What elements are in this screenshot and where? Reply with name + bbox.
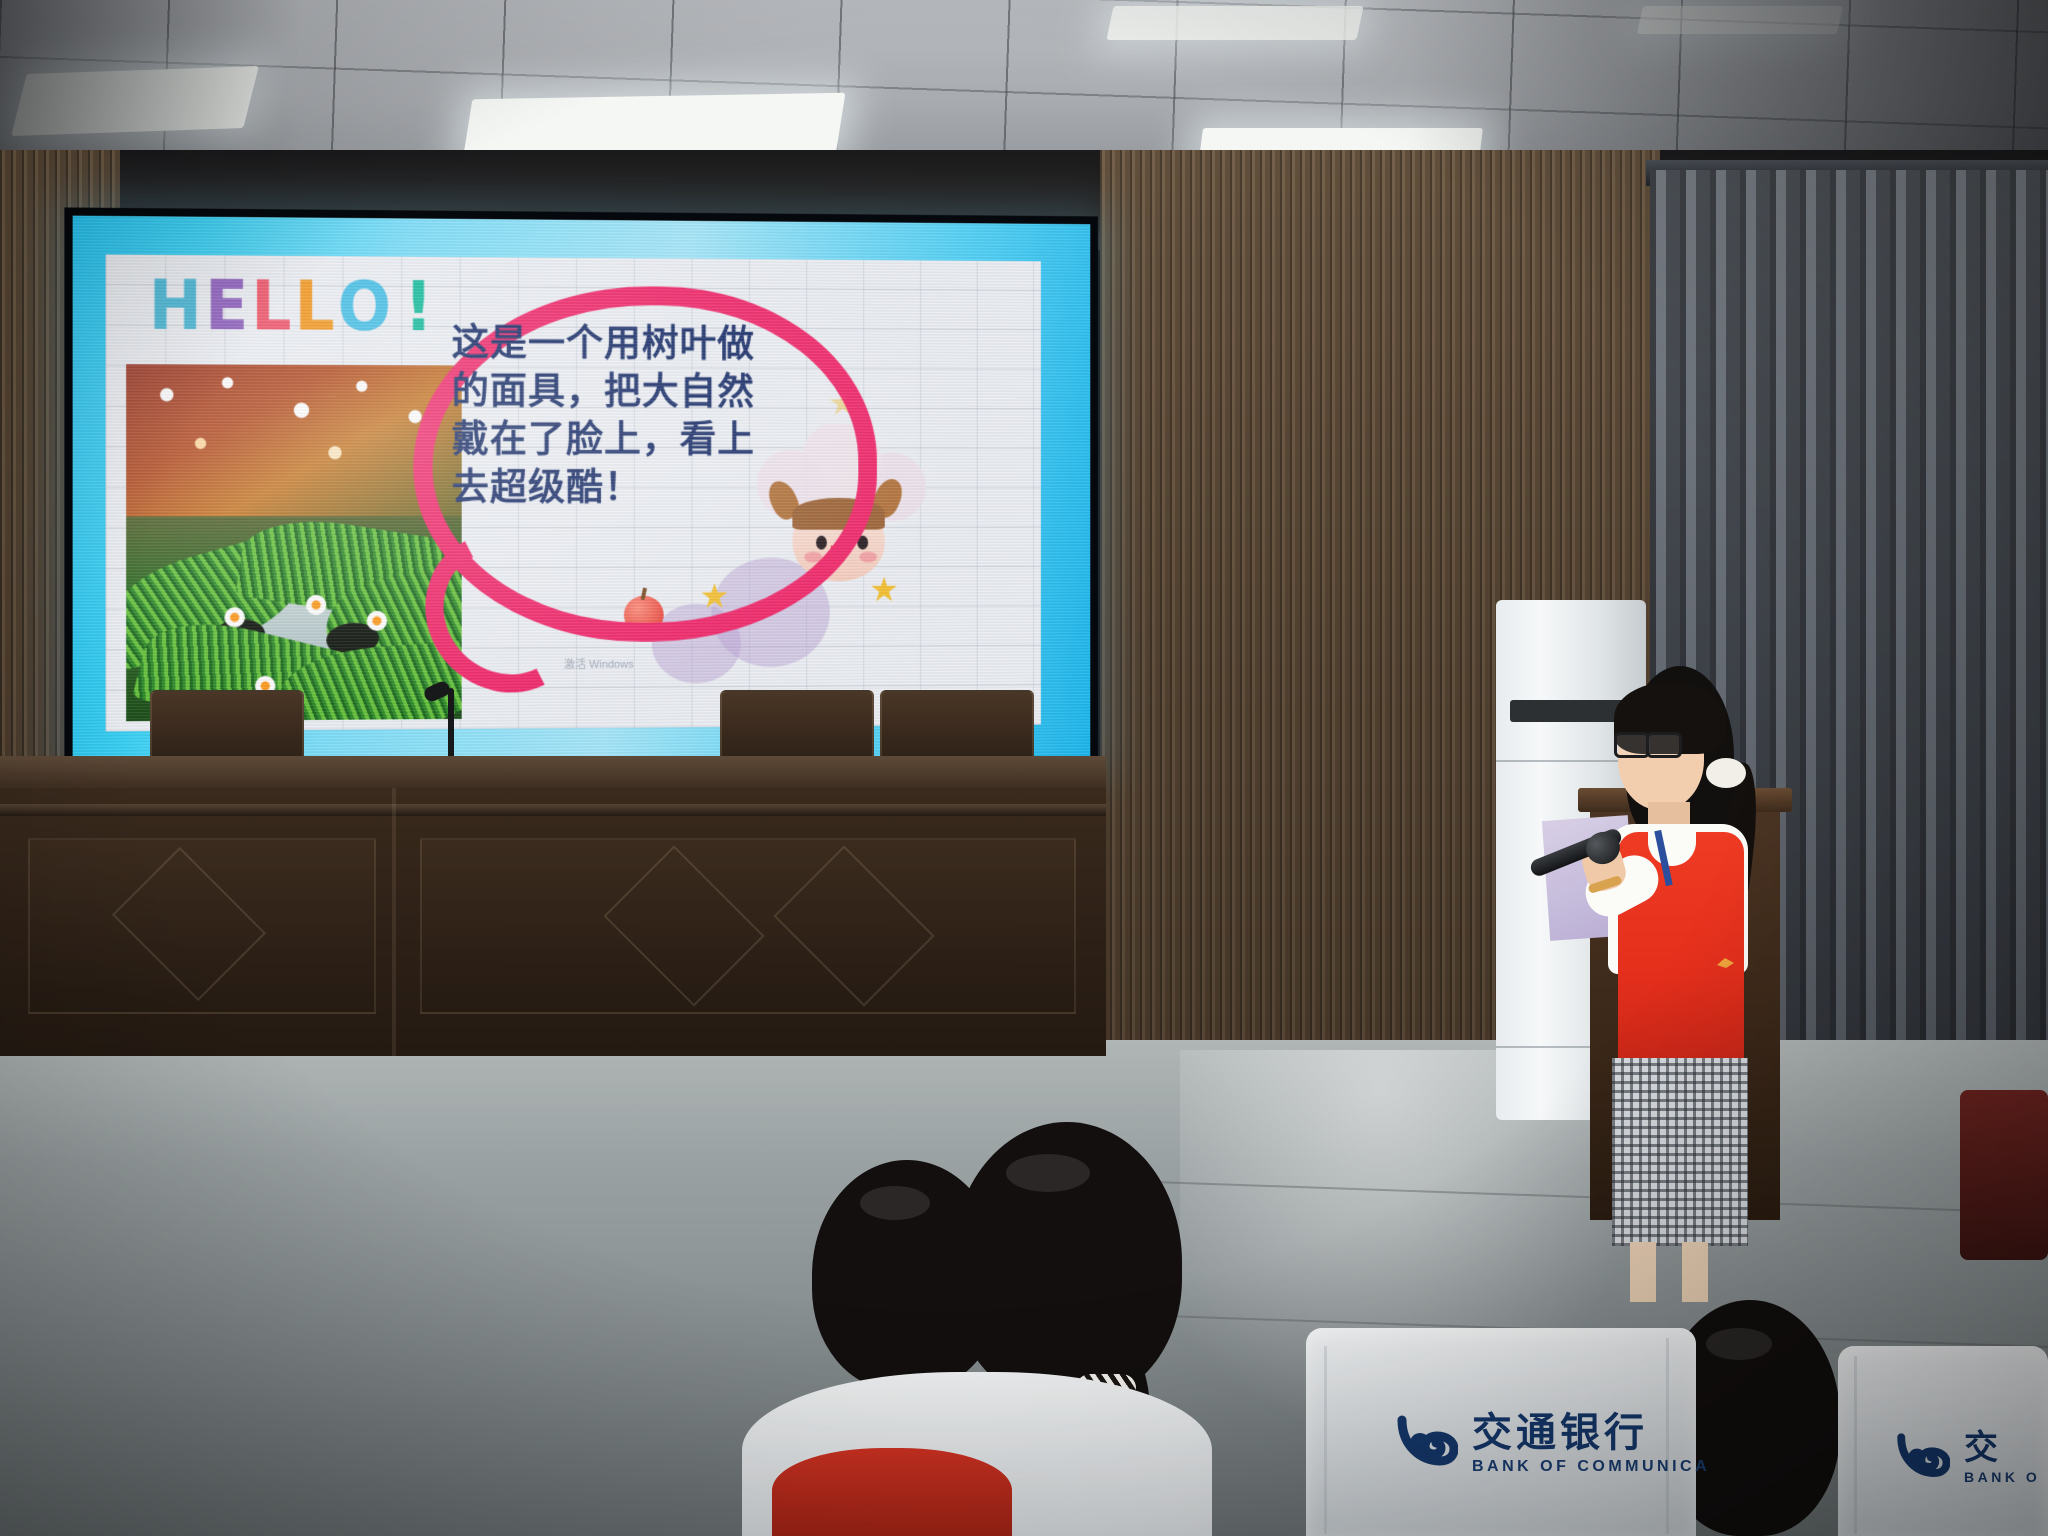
stage-chair	[150, 690, 304, 766]
sheep-cheek-right	[859, 551, 877, 562]
table-panel-divider	[392, 788, 396, 1056]
gooseneck-microphone-stand	[448, 688, 454, 760]
bank-of-communications-logo-icon	[1896, 1426, 1950, 1480]
screen-display-area: H E L L O !	[73, 216, 1091, 769]
screenshot-root: H E L L O !	[0, 0, 2048, 1536]
presider-table-rail	[0, 804, 1106, 816]
hello-letter-o: O	[338, 276, 391, 337]
hello-exclamation: !	[404, 277, 433, 338]
hello-letter-l1: L	[251, 276, 291, 337]
hair-highlight	[860, 1186, 930, 1220]
autumn-canopy	[126, 364, 462, 516]
glasses-lens-left	[1614, 732, 1650, 758]
presenter-leg-left	[1630, 1242, 1656, 1302]
presider-table-top	[0, 756, 1106, 792]
bubble-line-3: 戴在了脸上，看上	[452, 416, 822, 465]
bank-logo-block: 交 BANK O	[1896, 1420, 2040, 1485]
bank-name-cn: 交	[1964, 1420, 2040, 1469]
bank-logo-block: 交通银行 BANK OF COMMUNICA	[1396, 1400, 1710, 1476]
cover-crease	[1854, 1356, 1857, 1534]
slide-heading: H E L L O !	[149, 277, 433, 335]
daisy-flower	[224, 607, 244, 627]
hair-highlight	[1006, 1154, 1090, 1192]
ceiling-light-panel	[1106, 6, 1363, 40]
leaf-mask-photo	[126, 364, 462, 721]
bank-name-en: BANK O	[1964, 1469, 2040, 1485]
vest-emblem-icon	[1716, 956, 1736, 970]
cover-crease	[1324, 1346, 1327, 1534]
side-chair	[1960, 1090, 2048, 1260]
star-decor: ★	[869, 573, 899, 607]
bank-name-cn: 交通银行	[1472, 1400, 1710, 1458]
stage-chair	[720, 690, 874, 766]
presenter-leg-right	[1682, 1242, 1708, 1302]
bubble-line-4: 去超级酷！	[452, 464, 822, 512]
bubble-line-2: 的面具，把大自然	[452, 368, 822, 417]
speech-bubble-text: 这是一个用树叶做 的面具，把大自然 戴在了脸上，看上 去超级酷！	[452, 319, 822, 512]
hair-scrunchie	[1706, 758, 1746, 788]
bank-of-communications-logo-icon	[1396, 1407, 1458, 1469]
hair-highlight	[1706, 1328, 1772, 1360]
daisy-flower	[306, 595, 326, 615]
windows-activation-watermark: 激活 Windows	[564, 656, 634, 672]
audience-red-vest	[772, 1448, 1012, 1536]
hello-letter-l2: L	[295, 276, 335, 337]
presenter	[1556, 666, 1776, 1306]
presenter-checkered-skirt	[1612, 1058, 1748, 1246]
hello-letter-e: E	[205, 275, 248, 336]
bubble-line-1: 这是一个用树叶做	[452, 319, 822, 369]
bank-name-en: BANK OF COMMUNICA	[1472, 1458, 1710, 1476]
daisy-flower	[367, 611, 387, 631]
presentation-slide: H E L L O !	[106, 254, 1041, 731]
hello-letter-h: H	[149, 275, 202, 336]
stage-chair	[880, 690, 1034, 766]
ac-brand-label	[1512, 676, 1515, 686]
glasses-lens-right	[1646, 732, 1682, 758]
